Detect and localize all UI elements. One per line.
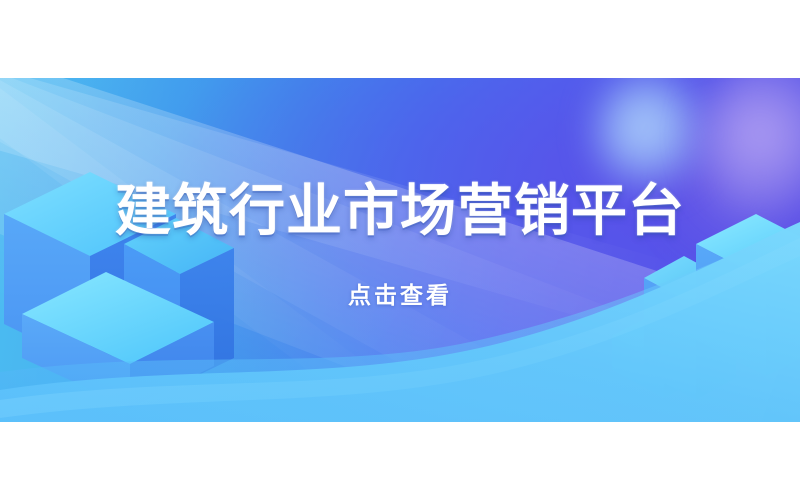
bottom-wave	[0, 222, 800, 422]
view-details-link[interactable]: 点击查看	[348, 276, 452, 310]
banner-page: 建筑行业市场营销平台 点击查看	[0, 0, 800, 500]
promo-banner[interactable]: 建筑行业市场营销平台 点击查看	[0, 78, 800, 422]
